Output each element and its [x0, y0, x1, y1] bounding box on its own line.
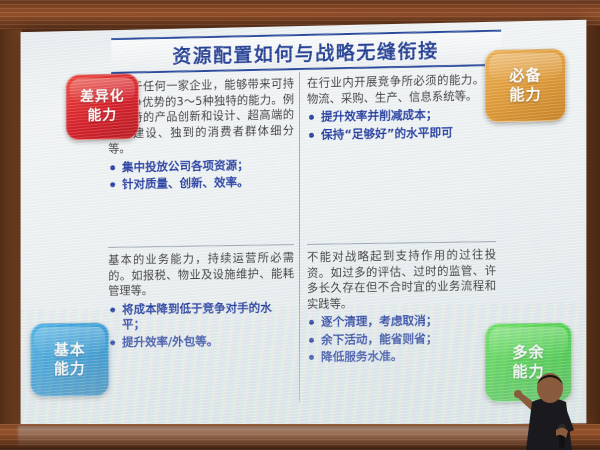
presenter-silhouette: [510, 358, 588, 450]
slide-title-banner: 资源配置如何与战略无缝衔接: [111, 30, 501, 74]
label-line-2: 能力: [509, 85, 541, 105]
list-item: 将成本降到低于竞争对手的水平；: [108, 300, 294, 333]
wall-panel-left: [0, 30, 22, 430]
quadrant-bottom-right: 不能对战略起到支持作用的过往投资。如过多的评估、过时的监管、许多长久存在但不合时…: [307, 241, 496, 406]
label-line-2: 能力: [88, 107, 118, 126]
quadrant-bottom-left-bullets: 将成本降到低于竞争对手的水平； 提升效率/外包等。: [108, 300, 294, 351]
column-right: 在行业内开展竞争所必须的能力。如物流、采购、生产、信息系统等。 提升效率并削减成…: [300, 68, 501, 402]
label-essential-capability: 必备 能力: [485, 48, 566, 122]
list-item: 提升效率并削减成本；: [307, 106, 496, 125]
projection-screen: 资源配置如何与战略无缝衔接 有别于任何一家企业，能够带来可持续竞争优势的3～5种…: [21, 20, 587, 429]
list-item: 余下活动，能省则省；: [307, 330, 496, 348]
quadrant-top-right: 在行业内开展竞争所必须的能力。如物流、采购、生产、信息系统等。 提升效率并削减成…: [307, 72, 496, 244]
quadrant-bottom-right-paragraph: 不能对战略起到支持作用的过往投资。如过多的评估、过时的监管、许多长久存在但不合时…: [307, 247, 496, 312]
slide-content: 有别于任何一家企业，能够带来可持续竞争优势的3～5种独特的能力。例如独特的产品创…: [101, 68, 501, 404]
list-item: 针对质量、创新、效率。: [108, 175, 294, 194]
quadrant-top-left-bullets: 集中投放公司各项资源； 针对质量、创新、效率。: [108, 157, 294, 193]
list-item: 逐个清理，考虑取消；: [307, 313, 496, 331]
slide-title: 资源配置如何与战略无缝衔接: [172, 36, 438, 69]
list-item: 集中投放公司各项资源；: [108, 157, 294, 176]
quadrant-bottom-left: 基本的业务能力，持续运营所必需的。如报税、物业及设施维护、能耗管理等。 将成本降…: [108, 244, 294, 408]
label-line-1: 基本: [54, 341, 86, 360]
conference-room: 资源配置如何与战略无缝衔接 有别于任何一家企业，能够带来可持续竞争优势的3～5种…: [0, 0, 600, 450]
quadrant-bottom-right-bullets: 逐个清理，考虑取消； 余下活动，能省则省； 降低服务水准。: [307, 313, 496, 366]
list-item: 提升效率/外包等。: [108, 333, 294, 351]
label-line-2: 能力: [54, 360, 86, 379]
list-item: 降低服务水准。: [307, 348, 496, 366]
label-basic-capability: 基本 能力: [30, 322, 109, 396]
label-line-1: 必备: [509, 66, 541, 86]
list-item: 保持“足够好”的水平即可: [307, 124, 496, 143]
quadrant-top-right-bullets: 提升效率并削减成本； 保持“足够好”的水平即可: [307, 106, 496, 143]
label-differentiating-capability: 差异化 能力: [66, 73, 139, 140]
quadrant-bottom-left-paragraph: 基本的业务能力，持续运营所必需的。如报税、物业及设施维护、能耗管理等。: [108, 250, 294, 299]
quadrant-top-right-paragraph: 在行业内开展竞争所必须的能力。如物流、采购、生产、信息系统等。: [307, 72, 496, 107]
label-line-1: 差异化: [80, 88, 124, 108]
